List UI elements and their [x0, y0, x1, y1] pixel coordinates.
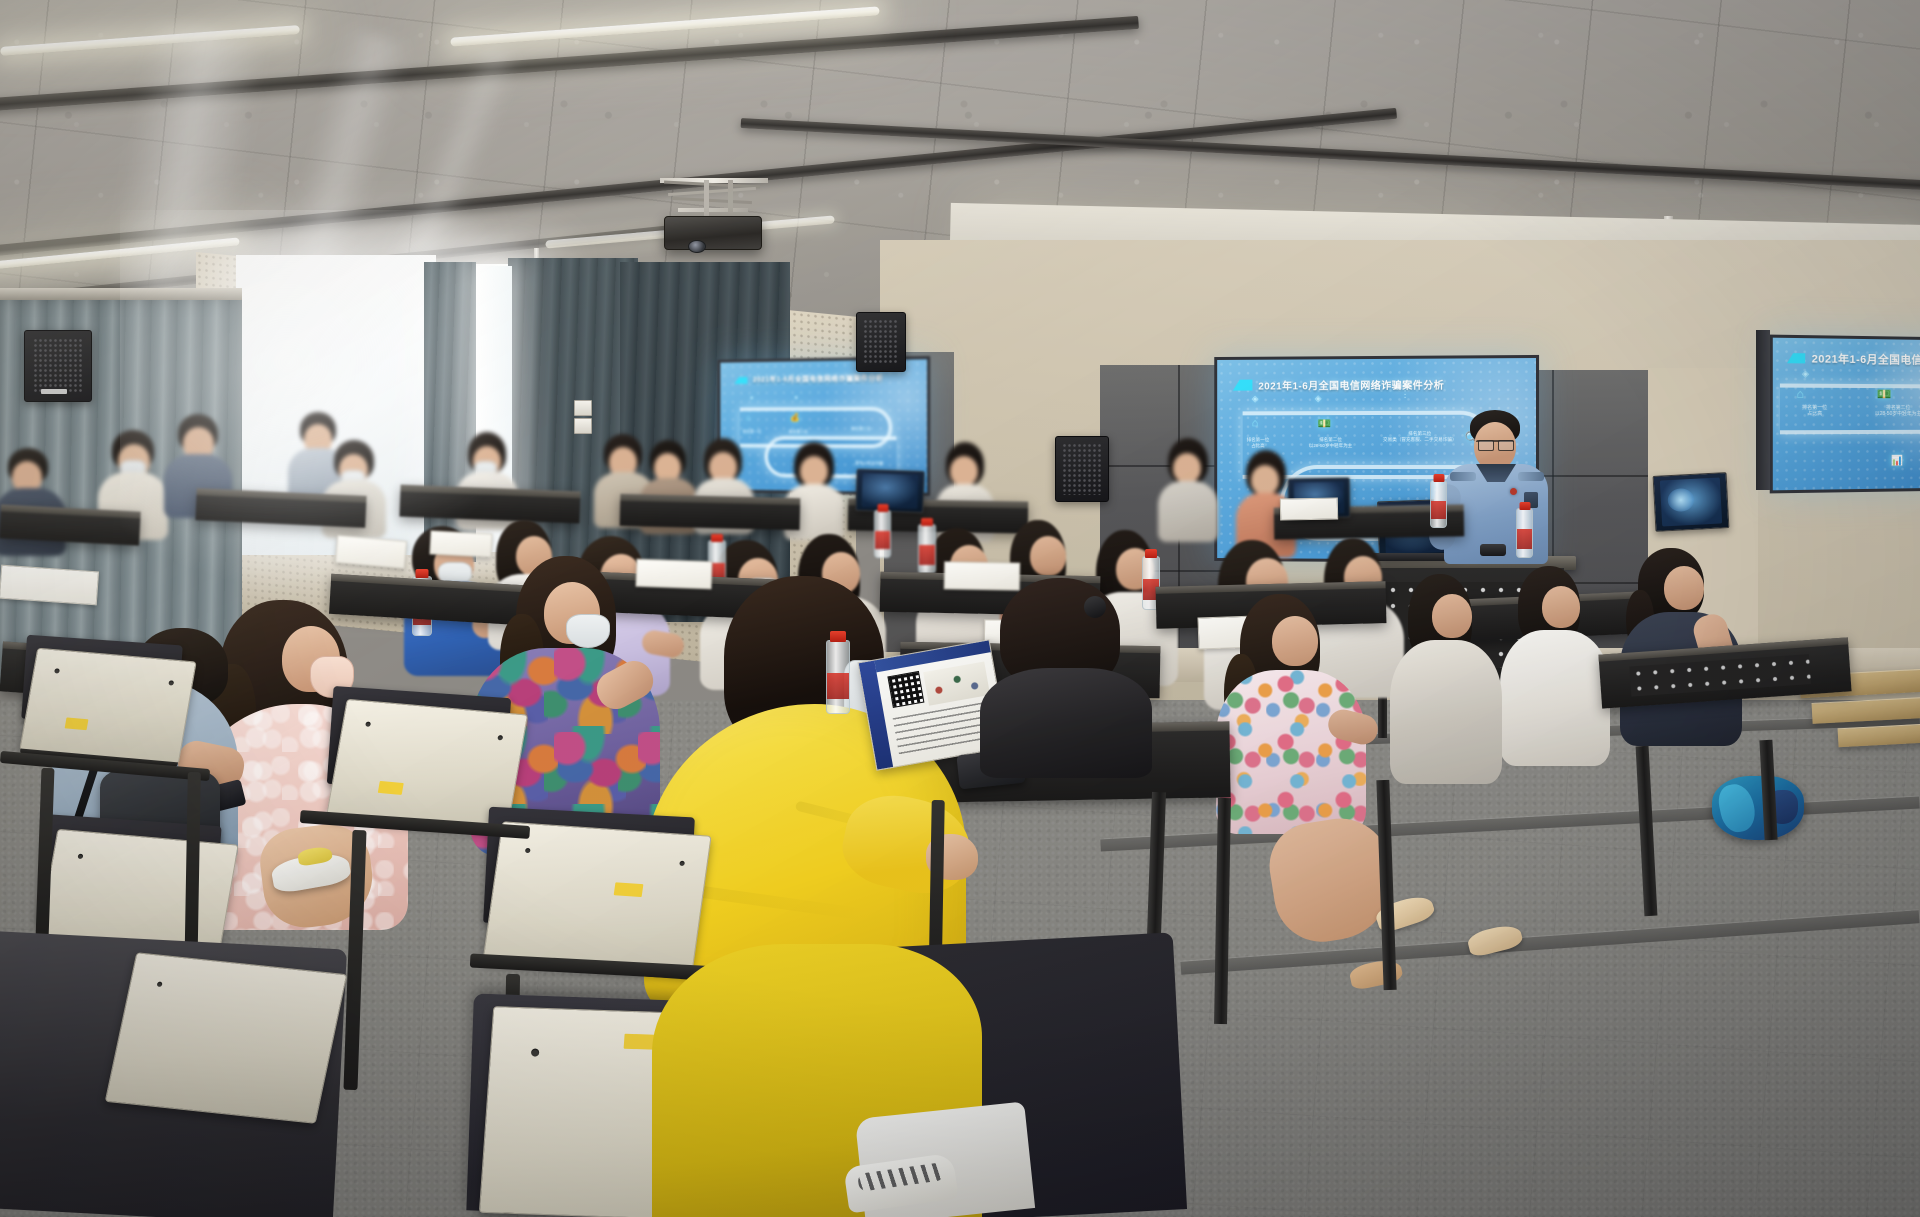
slide-header: 2021年1-6月全国电信网络诈骗案件分析	[1787, 350, 1920, 368]
bottle-label	[919, 545, 935, 565]
backpack-strap	[1715, 781, 1758, 835]
node-detail-2: 以28-50岁中轻年为主	[1309, 443, 1352, 448]
bottle-cap	[830, 631, 846, 642]
tablet-hole	[168, 680, 174, 685]
node-icon-2: 💵	[1877, 387, 1892, 401]
node-rank-1: 排名第一位	[1247, 437, 1270, 442]
head	[1251, 465, 1279, 495]
paper-handout-2	[429, 530, 492, 557]
water-bottle-lectern	[1516, 508, 1533, 558]
node-label-1: 排名第一位	[732, 429, 772, 434]
writing-tablet-front-3	[482, 821, 711, 977]
right-screen: 2021年1-6月全国电信网络诈骗案件分析 ⌂ 💵 ◈ 排名第一位 占比高 排名…	[1770, 335, 1920, 494]
node-rank-3: 排名第三位	[1408, 431, 1431, 436]
node-pin-1: ◈	[1802, 368, 1809, 379]
face-mask	[566, 614, 610, 648]
torso	[980, 668, 1152, 778]
node-pin-2: ◈	[1315, 393, 1322, 404]
bottle-cap	[1519, 502, 1530, 510]
water-bottle-1	[874, 510, 891, 558]
tablet-hole	[525, 848, 531, 853]
tablet-hole	[497, 735, 503, 740]
node-pin-1: ●	[750, 395, 753, 401]
seat-number-sticker	[65, 717, 89, 730]
slide-title: 2021年1-6月全国电信网络诈骗案件分析	[1812, 350, 1920, 368]
tablet-hole	[679, 861, 685, 866]
hair-clip	[1084, 596, 1106, 618]
bottle-label	[827, 673, 849, 699]
slide-logo-icon	[1233, 380, 1253, 391]
tablet-hole	[78, 854, 84, 859]
head	[1272, 616, 1318, 666]
desk-row-far-4	[620, 494, 801, 530]
torso	[1390, 640, 1502, 784]
microphone-base	[1480, 544, 1506, 556]
slide-title: 2021年1-6月全国电信网络诈骗案件分析	[753, 373, 884, 385]
paper-handout-1	[335, 535, 407, 569]
attendee-floral-right	[1216, 594, 1376, 834]
wall-speaker-center	[856, 312, 906, 372]
node-icon-1: ⌂	[1797, 387, 1804, 401]
seat-number-sticker	[378, 781, 404, 795]
curtain-rail	[0, 288, 242, 300]
handout-text-lines	[893, 702, 994, 758]
node-pin-3: ⋮	[1401, 389, 1410, 400]
node-pin-1: ◈	[1252, 393, 1259, 404]
presenter-epaulette-left	[1450, 472, 1476, 481]
attendee-right-mid	[1390, 574, 1510, 784]
node-icon-1: ⌂	[746, 413, 751, 422]
wall-control-plate-6	[574, 418, 592, 434]
head	[1432, 594, 1472, 638]
writing-tablet-front-1	[19, 648, 197, 765]
bottle-cap	[1433, 474, 1444, 482]
node-icon-2: 💰	[790, 413, 800, 422]
bottle-cap	[711, 534, 723, 542]
bottle-cap	[877, 504, 888, 512]
node-detail-2: 以28-50岁中轻年为主	[1875, 411, 1920, 417]
wall-speaker-left	[24, 330, 92, 402]
right-screen-bezel	[1756, 330, 1770, 490]
slide-header: 2021年1-6月全国电信网络诈骗案件分析	[1233, 377, 1444, 393]
node-icon-5: 📊	[1891, 456, 1903, 467]
wall-control-plate-5	[574, 400, 592, 416]
presenter-glasses-lens-right	[1498, 440, 1514, 451]
node-label-2: 排名第二位 以28-50岁中轻年为主	[1293, 437, 1369, 449]
head	[1030, 536, 1066, 576]
projector-lens	[688, 240, 706, 253]
paper-handout-7	[0, 565, 99, 606]
bottle-label	[1431, 501, 1446, 519]
handheld-tablet	[1653, 472, 1730, 532]
paper-handout-6	[1280, 497, 1338, 520]
bottle-label	[875, 531, 890, 549]
water-bottle-front	[826, 640, 850, 714]
bottle-cap	[1145, 549, 1157, 558]
slide-header: 2021年1-6月全国电信网络诈骗案件分析	[734, 373, 883, 385]
desk-row-far-3	[399, 485, 580, 524]
attendee-dark-top-front	[980, 578, 1160, 778]
bottle-cap	[921, 518, 933, 526]
torso	[1500, 630, 1610, 766]
blue-backpack	[1712, 776, 1804, 840]
water-bottle-6	[1430, 480, 1447, 528]
bottle-label	[1517, 529, 1532, 549]
tablet-hole	[531, 1048, 540, 1056]
bottle-cap	[416, 569, 429, 578]
wall-speaker-right	[1055, 436, 1109, 502]
node-label-1: 排名第一位 占比高	[1784, 405, 1845, 418]
node-label-1: 排名第一位 占比高	[1230, 437, 1287, 448]
slide-title: 2021年1-6月全国电信网络诈骗案件分析	[1258, 377, 1444, 393]
node-icon-1: ⌂	[1252, 417, 1259, 429]
presenter-lapel-microphone	[1510, 488, 1517, 495]
presenter-epaulette-right	[1518, 472, 1544, 481]
water-bottle-3	[918, 524, 936, 574]
speaker-grille	[863, 319, 900, 365]
qr-code	[887, 671, 924, 708]
node-label-2: 排名第二位	[774, 429, 823, 434]
tablet-hole	[157, 982, 163, 987]
tablet-hole	[365, 722, 371, 727]
node-pin-2: ●	[794, 395, 797, 401]
desk-module-panel	[1629, 654, 1811, 696]
head	[1664, 566, 1704, 610]
writing-tablet-bottom-left	[105, 952, 348, 1124]
node-label-6: 冒充公检法诈骗	[838, 460, 902, 466]
attendee-back-12	[1158, 438, 1220, 542]
head	[1542, 586, 1580, 628]
torso-floral	[1216, 670, 1366, 834]
ceiling-projector-center	[650, 178, 780, 258]
seat-number-sticker	[614, 882, 644, 897]
speaker-grille	[1062, 443, 1102, 494]
node-detail-1: 占比高	[1251, 443, 1265, 448]
node-detail-1: 占比高	[1807, 411, 1822, 417]
slide-logo-icon	[1787, 353, 1805, 363]
attendee-laptop-left	[855, 469, 924, 513]
slide-logo-icon	[734, 376, 747, 383]
node-label-2: 排名第二位 以28-50岁中轻年为主	[1859, 405, 1920, 418]
photograph-lecture-hall: 2021年1-6月全国电信网络诈骗案件分析 ⌂ 💰 排名第一位 排名第二位 排名…	[0, 0, 1920, 1217]
tablet-hole	[54, 668, 60, 673]
node-icon-2: 💵	[1318, 417, 1332, 430]
projector-body	[664, 216, 762, 250]
head	[800, 456, 828, 486]
head	[950, 456, 978, 486]
head	[1173, 453, 1201, 483]
laptop-screen-glow	[862, 473, 919, 509]
presenter-glasses-lens-left	[1478, 440, 1494, 451]
node-label-3: 排名第三位	[833, 426, 888, 431]
speaker-grille	[33, 338, 83, 394]
node-rank-2: 排名第二位	[1319, 437, 1342, 442]
desk-row-far-left	[0, 504, 141, 545]
